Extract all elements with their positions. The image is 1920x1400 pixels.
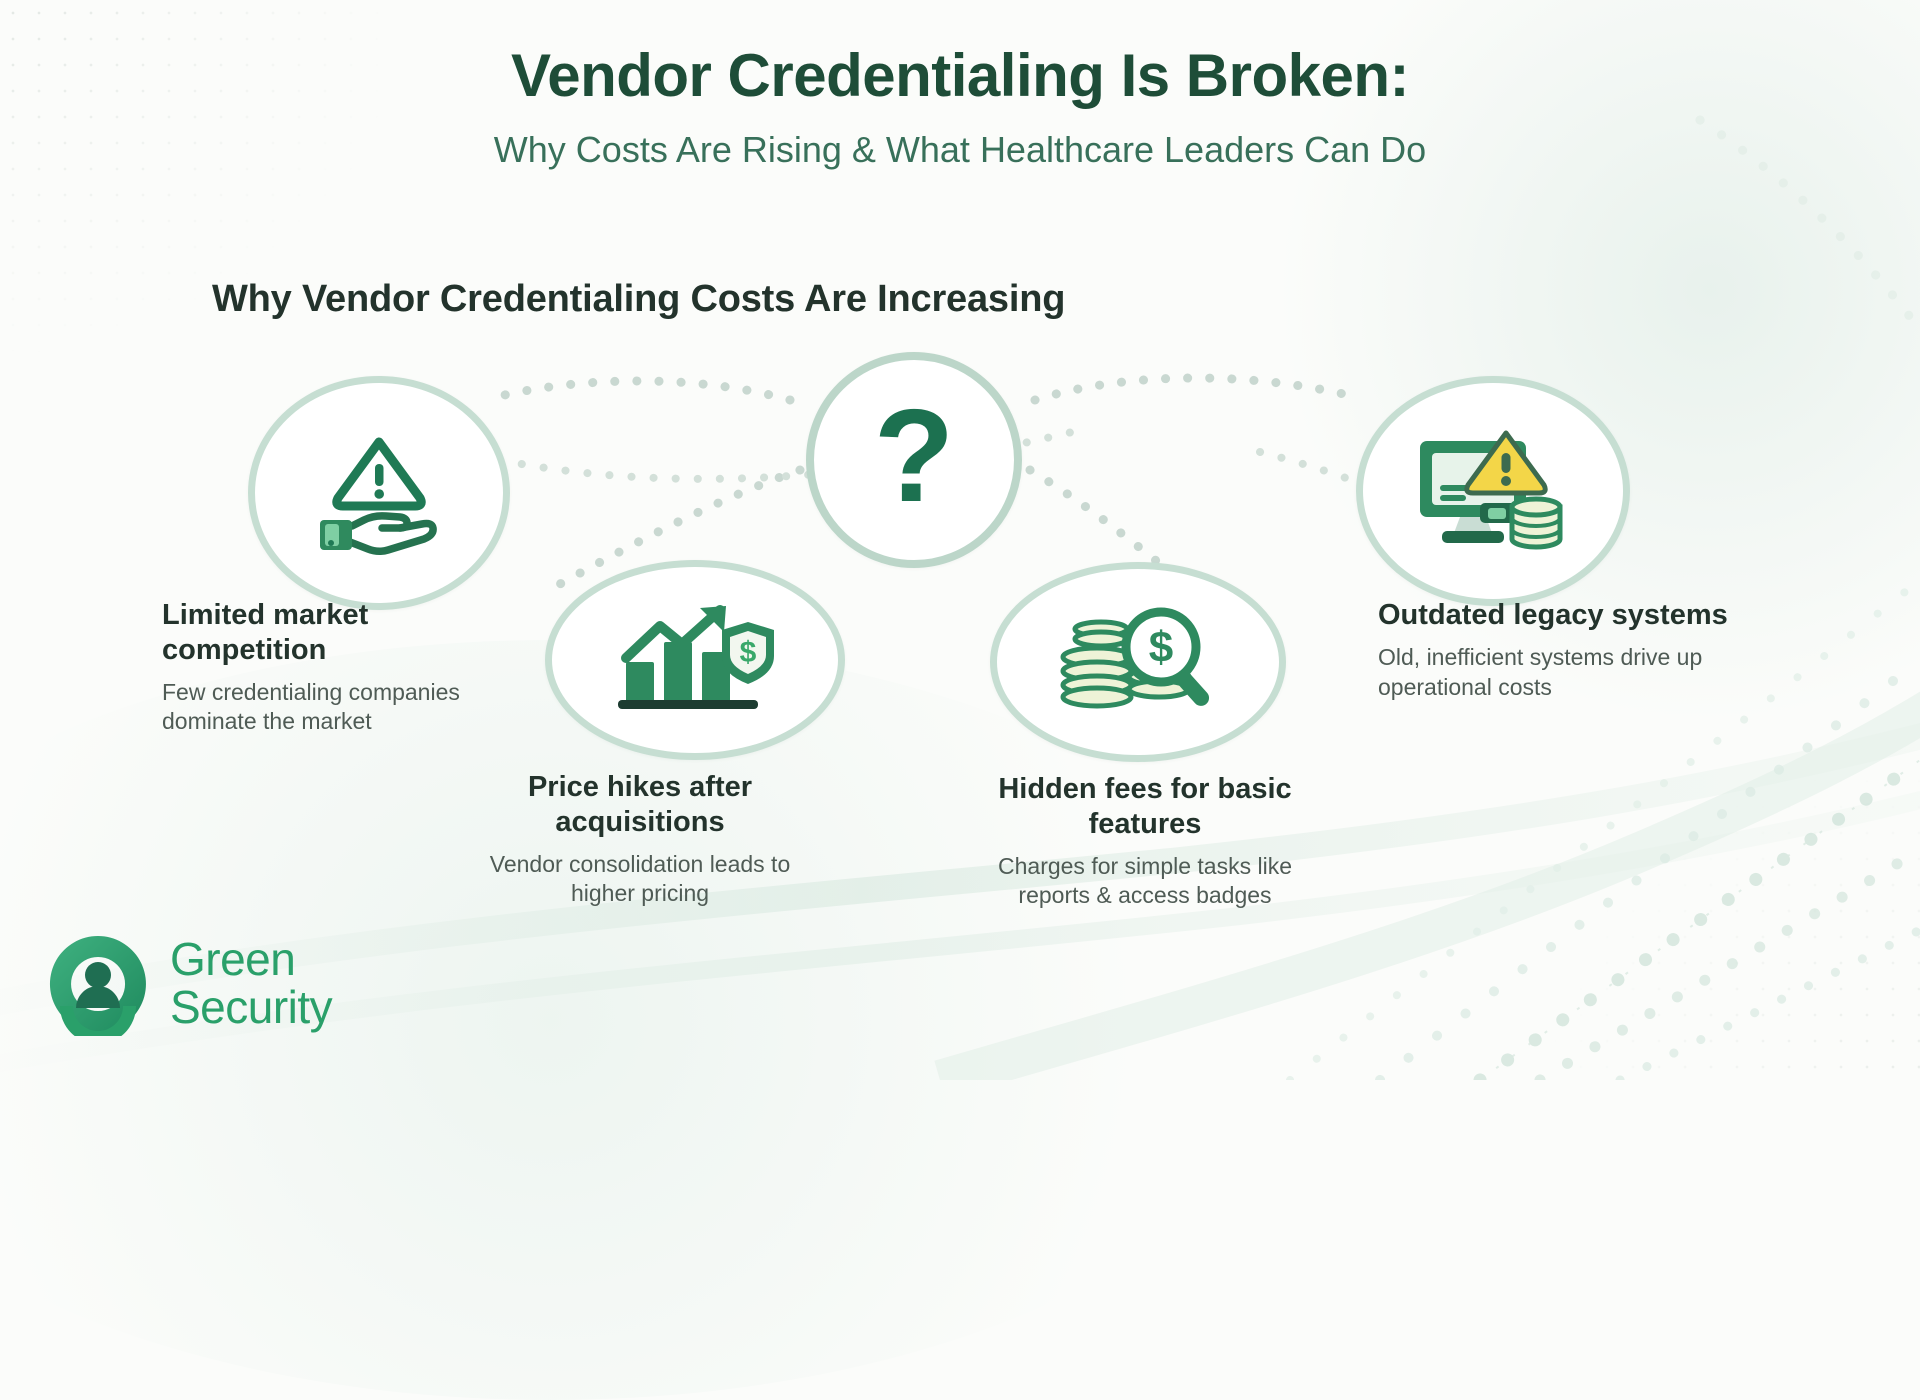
node-outdated-legacy-systems bbox=[1356, 376, 1630, 606]
rising-bar-chart-shield-icon: $ bbox=[608, 600, 783, 720]
node-hidden-fees: $ bbox=[990, 562, 1286, 762]
item-desc: Vendor consolidation leads to higher pri… bbox=[470, 850, 810, 910]
green-security-logo-icon bbox=[46, 932, 150, 1036]
brand-name-line1: Green bbox=[170, 936, 332, 984]
question-mark-icon: ? bbox=[874, 390, 955, 522]
item-title: Outdated legacy systems bbox=[1378, 598, 1758, 633]
brand-name-line2: Security bbox=[170, 984, 332, 1032]
bubble-limited-market-competition bbox=[248, 376, 510, 610]
svg-text:$: $ bbox=[1149, 623, 1173, 672]
brand-logo-text: Green Security bbox=[170, 936, 332, 1032]
bubble-hidden-fees: $ bbox=[990, 562, 1286, 762]
item-desc: Old, inefficient systems drive up operat… bbox=[1378, 643, 1758, 703]
node-limited-market-competition bbox=[248, 376, 510, 610]
hand-holding-warning-icon bbox=[304, 428, 454, 558]
svg-text:$: $ bbox=[739, 636, 756, 669]
item-title: Limited market competition bbox=[162, 598, 492, 668]
label-price-hikes: Price hikes after acquisitions Vendor co… bbox=[470, 770, 810, 909]
diagram: ? Limited market competition Few credent… bbox=[0, 0, 1920, 1080]
label-outdated-legacy-systems: Outdated legacy systems Old, inefficient… bbox=[1378, 598, 1758, 703]
bubble-outdated-legacy-systems bbox=[1356, 376, 1630, 606]
center-node: ? bbox=[806, 352, 1022, 568]
brand-logo: Green Security bbox=[46, 932, 332, 1036]
item-title: Price hikes after acquisitions bbox=[470, 770, 810, 840]
item-desc: Few credentialing companies dominate the… bbox=[162, 678, 492, 738]
bubble-price-hikes: $ bbox=[545, 560, 845, 760]
item-desc: Charges for simple tasks like reports & … bbox=[960, 852, 1330, 912]
center-bubble: ? bbox=[806, 352, 1022, 568]
coins-magnifier-icon: $ bbox=[1053, 605, 1223, 720]
label-limited-market-competition: Limited market competition Few credentia… bbox=[162, 598, 492, 737]
node-price-hikes: $ bbox=[545, 560, 845, 760]
legacy-monitor-database-warning-icon bbox=[1408, 427, 1578, 555]
label-hidden-fees: Hidden fees for basic features Charges f… bbox=[960, 772, 1330, 911]
item-title: Hidden fees for basic features bbox=[960, 772, 1330, 842]
